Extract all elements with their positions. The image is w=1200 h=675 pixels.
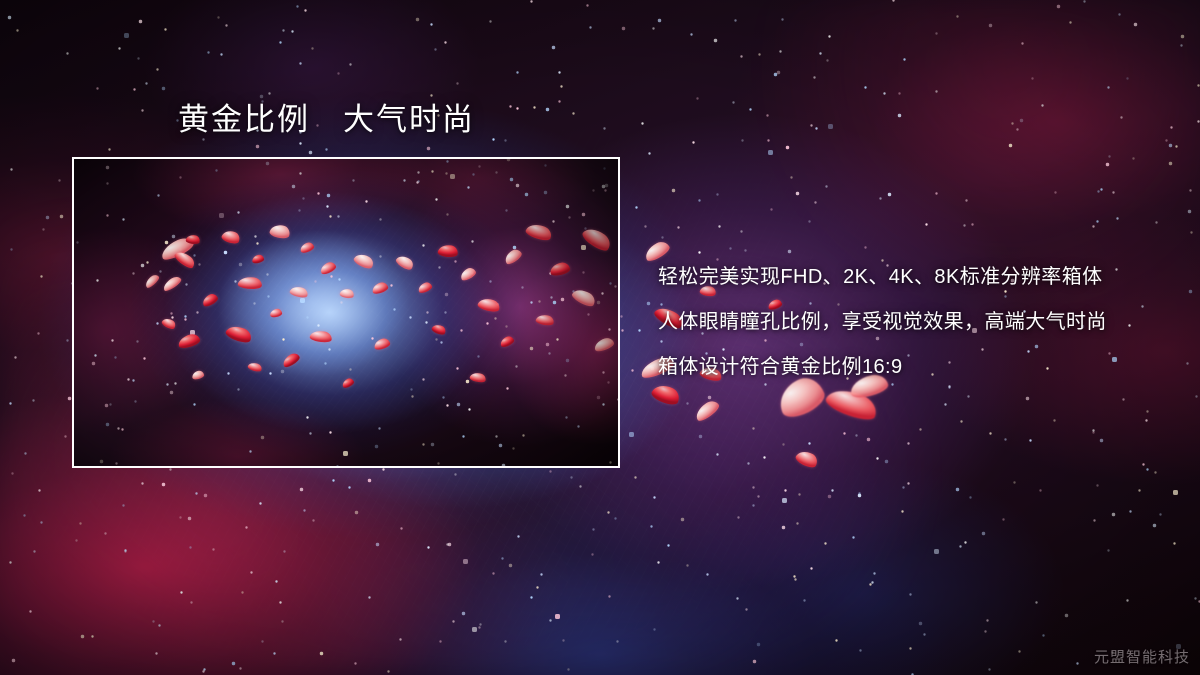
flower-petal bbox=[299, 241, 315, 254]
flower-petal bbox=[499, 335, 515, 349]
flower-petal bbox=[352, 251, 375, 271]
flower-petal bbox=[177, 333, 201, 350]
flower-petal bbox=[431, 323, 447, 337]
slide-body-text: 轻松完美实现FHD、2K、4K、8K标准分辨率箱体 人体眼睛瞳孔比例，享受视觉效… bbox=[658, 255, 1188, 390]
flower-petal bbox=[469, 371, 487, 384]
flower-petal bbox=[289, 285, 309, 300]
company-watermark: 元盟智能科技 bbox=[1094, 646, 1190, 667]
flower-petal bbox=[693, 398, 722, 423]
slide-title: 黄金比例 大气时尚 bbox=[178, 100, 475, 140]
flower-petal bbox=[319, 260, 338, 275]
presentation-slide: 黄金比例 大气时尚 轻松完美实现FHD、2K、4K、8K标准分辨率箱体 人体眼睛… bbox=[0, 0, 1200, 675]
flower-petal bbox=[269, 223, 292, 240]
flower-petal bbox=[161, 316, 178, 331]
flower-petal bbox=[201, 292, 220, 308]
flower-petal bbox=[224, 323, 253, 346]
flower-petal bbox=[341, 377, 355, 389]
flower-petal bbox=[373, 337, 391, 351]
flower-petal bbox=[309, 329, 333, 344]
flower-petal bbox=[524, 221, 553, 243]
flower-petal bbox=[158, 235, 195, 263]
flower-petal bbox=[477, 296, 501, 314]
flower-petal bbox=[437, 244, 458, 259]
body-line-2: 人体眼睛瞳孔比例，享受视觉效果，高端大气时尚 bbox=[658, 300, 1188, 345]
panel-petals-overlay bbox=[74, 159, 618, 466]
body-line-3: 箱体设计符合黄金比例16:9 bbox=[658, 345, 1188, 390]
flower-petal bbox=[281, 351, 302, 369]
flower-petal bbox=[570, 286, 597, 309]
flower-petal bbox=[502, 247, 523, 266]
flower-petal bbox=[247, 361, 263, 373]
flower-petal bbox=[459, 266, 478, 282]
flower-petal bbox=[220, 228, 241, 245]
flower-petal bbox=[417, 281, 433, 294]
flower-petal bbox=[371, 281, 389, 295]
flower-petal bbox=[251, 254, 264, 264]
flower-petal bbox=[161, 274, 183, 292]
flower-petal bbox=[270, 308, 283, 318]
flower-petal bbox=[339, 288, 355, 300]
flower-petal bbox=[394, 253, 415, 272]
flower-petal bbox=[794, 448, 820, 471]
flower-petal bbox=[143, 273, 160, 289]
flower-petal bbox=[593, 336, 615, 353]
flower-petal bbox=[580, 224, 614, 255]
flower-petal bbox=[535, 313, 555, 327]
flower-petal bbox=[185, 234, 200, 245]
body-line-1: 轻松完美实现FHD、2K、4K、8K标准分辨率箱体 bbox=[658, 255, 1188, 300]
flower-petal bbox=[549, 261, 571, 276]
galaxy-petals-image-panel bbox=[72, 157, 620, 468]
flower-petal bbox=[191, 370, 204, 380]
flower-petal bbox=[237, 276, 262, 290]
flower-petal bbox=[173, 248, 197, 270]
